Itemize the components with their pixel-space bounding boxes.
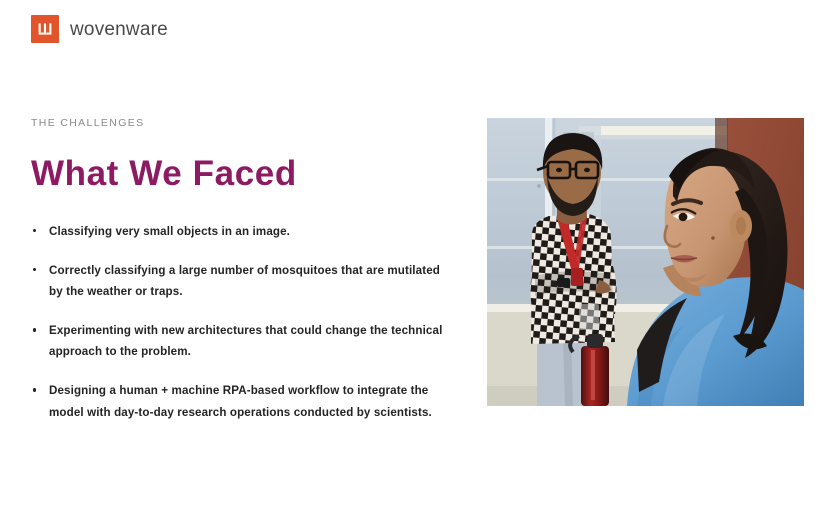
challenges-section: THE CHALLENGES What We Faced Classifying… [31,118,456,423]
section-eyebrow: THE CHALLENGES [31,118,456,129]
list-item: Correctly classifying a large number of … [31,260,456,302]
list-item: Designing a human + machine RPA-based wo… [31,380,456,422]
page-title: What We Faced [31,155,456,194]
brand-logo[interactable]: wovenware [31,15,168,43]
wovenware-sh-mark-icon [31,15,59,43]
list-item: Classifying very small objects in an ima… [31,221,456,242]
brand-wordmark: wovenware [70,20,168,39]
list-item: Experimenting with new architectures tha… [31,320,456,362]
team-photo [487,118,804,406]
challenges-list: Classifying very small objects in an ima… [31,221,456,423]
